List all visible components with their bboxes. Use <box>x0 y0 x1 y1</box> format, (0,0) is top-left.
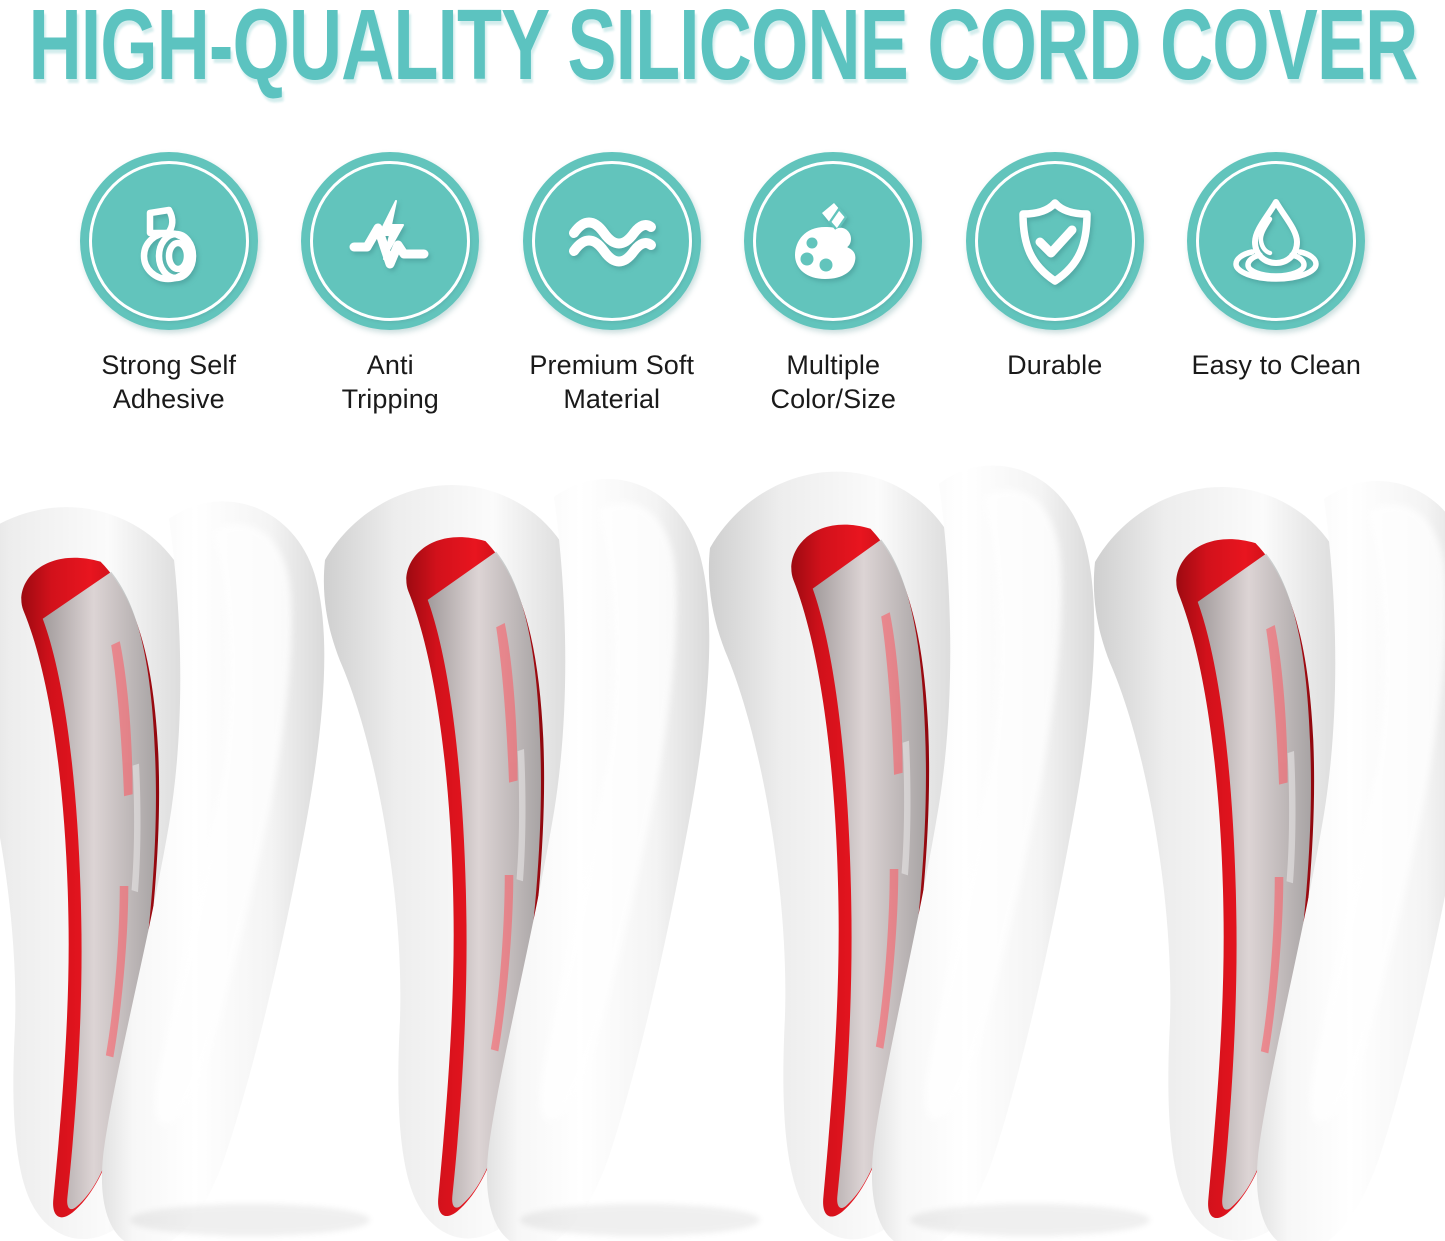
feature-label: Multiple Color/Size <box>770 348 896 416</box>
feature-label: Strong Self Adhesive <box>101 348 236 416</box>
coil-turn-2 <box>324 479 709 1241</box>
feature-badge-row: Strong Self Adhesive Anti Tripping <box>0 152 1445 422</box>
lightning-pulse-icon <box>338 189 442 293</box>
feature-label: Durable <box>1007 348 1102 382</box>
feature-item-strong-self-adhesive: Strong Self Adhesive <box>58 152 280 416</box>
feature-badge-circle <box>80 152 258 330</box>
adhesive-tape-roll-icon <box>117 189 221 293</box>
headline-banner: HIGH-QUALITY SILICONE CORD COVER <box>0 0 1445 92</box>
feature-item-anti-tripping: Anti Tripping <box>280 152 502 416</box>
feature-badge-circle <box>966 152 1144 330</box>
feature-label: Premium Soft Material <box>529 348 694 416</box>
feature-item-multiple-color-size: Multiple Color/Size <box>723 152 945 416</box>
feature-label: Easy to Clean <box>1192 348 1361 382</box>
feature-label: Anti Tripping <box>342 348 439 416</box>
page-title: HIGH-QUALITY SILICONE CORD COVER <box>28 0 1417 96</box>
feature-badge-circle <box>523 152 701 330</box>
coil-shadow <box>130 1204 1150 1236</box>
feature-badge-circle <box>301 152 479 330</box>
coil-turn-1 <box>0 501 324 1241</box>
product-infographic-page: HIGH-QUALITY SILICONE CORD COVER Strong … <box>0 0 1445 1241</box>
feature-badge-circle <box>1187 152 1365 330</box>
wavy-lines-icon <box>560 189 664 293</box>
product-hero-image <box>0 430 1445 1241</box>
feature-item-easy-to-clean: Easy to Clean <box>1166 152 1388 382</box>
coil-turn-4 <box>1094 481 1445 1241</box>
silicone-cord-cover-coil-illustration <box>0 430 1445 1241</box>
water-droplet-ripple-icon <box>1224 189 1328 293</box>
paint-palette-icon <box>781 189 885 293</box>
shield-check-icon <box>1003 189 1107 293</box>
feature-badge-circle <box>744 152 922 330</box>
feature-item-durable: Durable <box>944 152 1166 382</box>
coil-turn-3 <box>709 465 1094 1241</box>
feature-item-premium-soft-material: Premium Soft Material <box>501 152 723 416</box>
